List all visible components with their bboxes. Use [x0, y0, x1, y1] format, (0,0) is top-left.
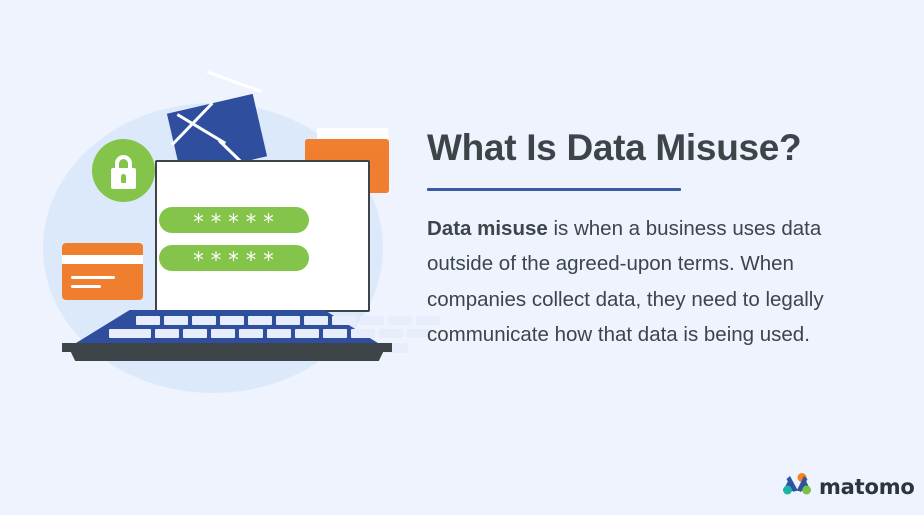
- matomo-wordmark: matomo: [819, 477, 915, 498]
- infographic-canvas: ***** *****: [0, 0, 924, 515]
- keyboard-key: [248, 316, 272, 325]
- keyboard-key: [136, 316, 160, 325]
- password-field-2-value: *****: [193, 250, 281, 271]
- keyboard-key: [332, 316, 356, 325]
- body-lead: Data misuse: [427, 217, 548, 240]
- keyboard-key: [360, 316, 384, 325]
- keyboard-key: [239, 329, 263, 338]
- keyboard-key: [304, 316, 328, 325]
- credit-card-line-1: [71, 276, 115, 279]
- laptop-screen: [155, 160, 370, 312]
- credit-card-line-2: [71, 285, 101, 288]
- matomo-logo: matomo: [782, 470, 902, 502]
- keyboard-key: [164, 316, 188, 325]
- keyboard-key: [183, 329, 207, 338]
- body-text: Data misuse is when a business uses data…: [427, 211, 847, 353]
- keyboard-key: [388, 316, 412, 325]
- laptop-base-lip: [62, 344, 392, 361]
- password-field-1-value: *****: [193, 212, 281, 233]
- keyboard-key: [295, 329, 319, 338]
- keyboard-key: [211, 329, 235, 338]
- page-title: What Is Data Misuse?: [427, 128, 857, 169]
- text-panel: What Is Data Misuse? Data misuse is when…: [427, 128, 857, 373]
- data-misuse-illustration: ***** *****: [0, 0, 420, 460]
- laptop-base: [62, 310, 392, 362]
- keyboard-key: [351, 329, 375, 338]
- envelope-fold-right: [207, 70, 263, 93]
- credit-card-icon: [62, 243, 143, 300]
- password-field-1: *****: [159, 207, 309, 233]
- keyboard-key: [192, 316, 216, 325]
- keyboard-key: [276, 316, 300, 325]
- keyboard-key: [379, 329, 403, 338]
- keyboard-key: [155, 329, 179, 338]
- keyboard-key: [109, 329, 151, 338]
- title-divider: [427, 188, 681, 191]
- keyboard-key: [323, 329, 347, 338]
- keyboard-key: [220, 316, 244, 325]
- keyboard-key: [267, 329, 291, 338]
- lock-icon: [92, 139, 155, 202]
- lock-keyhole: [121, 174, 126, 183]
- matomo-mark-icon: [782, 472, 812, 500]
- credit-card-stripe: [62, 255, 143, 264]
- password-field-2: *****: [159, 245, 309, 271]
- laptop-screen-surface: [157, 162, 368, 310]
- folder-tab: [305, 139, 339, 149]
